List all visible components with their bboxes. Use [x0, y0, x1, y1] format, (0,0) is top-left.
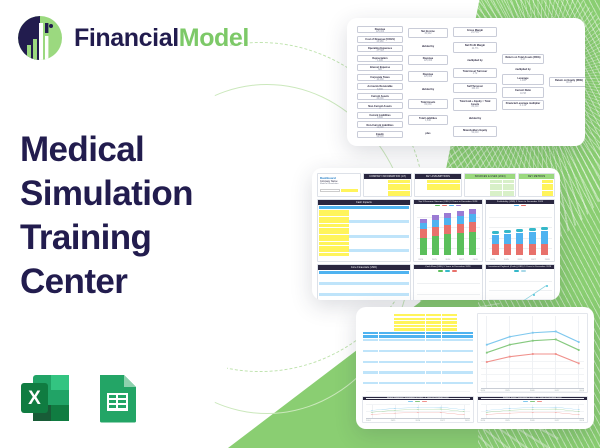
table-row — [363, 368, 473, 370]
table-cell — [379, 238, 394, 241]
table-cell — [364, 231, 379, 234]
table-cell — [438, 180, 449, 183]
table-cell — [379, 386, 394, 388]
table-cell — [457, 328, 472, 330]
table-row — [416, 187, 460, 190]
table-row — [319, 289, 409, 292]
table-cell — [457, 325, 472, 327]
table-cell — [426, 332, 441, 334]
brand-logo: FinancialModel — [17, 15, 249, 61]
table-cell — [410, 332, 425, 334]
dash-chart-revenue-streams[interactable]: Top 5 Revenue Streams (USD) 5 Years to D… — [413, 199, 483, 262]
bar-segment — [432, 220, 439, 227]
bar — [541, 231, 548, 255]
dash-card-company-info: COMPANY INFORMATION (AT) — [363, 173, 411, 197]
table-cell — [394, 297, 409, 300]
panel-projections[interactable]: 20242025202620272028 Income Statement Pr… — [356, 307, 594, 429]
table-cell — [334, 275, 349, 278]
tree-node: Net Profit Margin24.7% — [453, 42, 497, 52]
table-cell — [457, 386, 472, 388]
bar-segment — [432, 227, 439, 236]
axis-tick-label: 2024 — [490, 259, 495, 261]
table-cell — [379, 246, 394, 249]
table-row — [466, 191, 514, 194]
bar — [516, 233, 523, 255]
table-cell — [490, 184, 502, 187]
data-label — [529, 228, 536, 231]
table-cell — [334, 238, 349, 241]
table-cell — [531, 191, 542, 194]
table-cell — [319, 220, 334, 223]
table-cell — [394, 321, 409, 323]
table-cell — [363, 375, 378, 377]
table-cell — [363, 314, 378, 316]
table-cell — [377, 187, 388, 190]
table-cell — [379, 318, 394, 320]
tree-node: Revenue125,000 — [357, 26, 403, 33]
table-row — [365, 191, 409, 194]
axis-tick-label: 2028 — [545, 259, 550, 261]
table-row — [363, 332, 473, 334]
table-cell — [394, 224, 409, 227]
tree-node: Total Asset Turnover1.72 — [453, 68, 497, 78]
table-cell — [394, 242, 409, 245]
table-cell — [410, 361, 425, 363]
table-cell — [449, 187, 460, 190]
table-row — [466, 187, 514, 190]
table-cell — [364, 213, 379, 216]
tree-node: Revenue125,000 — [408, 55, 448, 65]
table-cell — [410, 328, 425, 330]
table-cell — [364, 253, 379, 256]
table-cell — [379, 361, 394, 363]
table-cell — [426, 350, 441, 352]
table-cell — [457, 350, 472, 352]
table-cell — [365, 180, 376, 183]
dash-chart-cash-flow[interactable]: Cash Flow (USD) 5 Years to December 2028… — [413, 264, 483, 300]
table-row — [319, 235, 409, 238]
bar-segment — [420, 238, 427, 256]
table-cell — [349, 289, 364, 292]
axis-tick-label: 2028 — [465, 420, 470, 422]
table-cell — [379, 235, 394, 238]
table-cell — [394, 346, 409, 348]
table-cell — [399, 191, 410, 194]
legend-swatch — [422, 401, 427, 402]
bar-segment — [444, 234, 451, 255]
table-row — [363, 353, 473, 355]
table-cell — [394, 228, 409, 231]
table-cell — [379, 314, 394, 316]
tree-column-1: Revenue125,000Cost of Revenue (COGS)43,9… — [357, 26, 403, 138]
table-cell — [334, 210, 349, 213]
table-cell — [349, 293, 364, 296]
table-cell — [379, 213, 394, 216]
file-format-icons: X — [18, 370, 141, 426]
table-cell — [349, 271, 364, 274]
table-cell — [349, 228, 364, 231]
table-cell — [427, 191, 438, 194]
table-cell — [394, 332, 409, 334]
legend-swatch — [521, 205, 526, 206]
legend-swatch — [449, 205, 454, 206]
table-cell — [334, 217, 349, 220]
table-row — [363, 346, 473, 348]
table-cell — [364, 275, 379, 278]
table-cell — [379, 378, 394, 380]
table-cell — [394, 339, 409, 341]
table-cell — [379, 279, 394, 282]
table-cell — [334, 213, 349, 216]
table-cell — [319, 242, 334, 245]
table-cell — [377, 194, 388, 196]
table-row — [319, 279, 409, 282]
table-row — [363, 328, 473, 330]
table-cell — [349, 275, 364, 278]
table-row — [319, 275, 409, 278]
table-cell — [531, 194, 542, 196]
table-cell — [438, 194, 449, 196]
table-cell — [457, 332, 472, 334]
table-cell — [426, 328, 441, 330]
table-cell — [531, 187, 542, 190]
table-cell — [394, 368, 409, 370]
table-cell — [349, 246, 364, 249]
bar-segment — [529, 232, 536, 244]
table-cell — [442, 378, 457, 380]
table-cell — [379, 357, 394, 359]
projections-chart-3[interactable]: Balance Sheet Presentation (in USD) - 5 … — [477, 396, 589, 423]
table-cell — [442, 318, 457, 320]
tree-node: Total Assets84,030 — [408, 99, 448, 109]
table-cell — [379, 346, 394, 348]
table-cell — [490, 194, 502, 196]
table-cell — [349, 253, 364, 256]
tree-node: Net Income30,942 — [408, 28, 448, 38]
table-cell — [426, 318, 441, 320]
table-cell — [364, 249, 379, 252]
dash-card-key-metrics: KEY METRICS — [518, 173, 555, 197]
table-cell — [364, 224, 379, 227]
table-cell — [349, 220, 364, 223]
legend-swatch — [452, 270, 457, 271]
table-cell — [394, 353, 409, 355]
axis-tick-label: 2026 — [518, 259, 523, 261]
table-cell — [520, 191, 531, 194]
table-cell — [334, 235, 349, 238]
table-cell — [426, 378, 441, 380]
table-cell — [416, 180, 427, 183]
table-cell — [379, 343, 394, 345]
tree-node: Financial Leverage multiplier0.1.22 — [502, 100, 544, 110]
table-cell — [379, 350, 394, 352]
table-cell — [442, 386, 457, 388]
table-cell — [466, 184, 478, 187]
table-cell — [394, 325, 409, 327]
table-cell — [363, 357, 378, 359]
table-row — [363, 325, 473, 327]
tree-node: Self Turnover104.04 — [453, 83, 497, 93]
table-cell — [334, 231, 349, 234]
table-cell — [363, 343, 378, 345]
table-cell — [334, 286, 349, 289]
bar-segment — [444, 218, 451, 225]
table-cell — [379, 228, 394, 231]
tree-node: multiplied by — [453, 57, 497, 63]
table-cell — [334, 242, 349, 245]
bar-segment — [516, 233, 523, 244]
data-label — [492, 231, 499, 234]
dash-card-sources-uses: SOURCES & USES (2024) — [464, 173, 516, 197]
table-row — [466, 184, 514, 187]
table-cell — [410, 321, 425, 323]
table-cell — [363, 364, 378, 366]
tree-node: Leverage1.486 — [502, 74, 544, 84]
table-cell — [426, 382, 441, 384]
table-cell — [442, 321, 457, 323]
table-cell — [394, 361, 409, 363]
table-cell — [319, 224, 334, 227]
table-cell — [394, 275, 409, 278]
axis-tick-label: 2025 — [504, 259, 509, 261]
table-cell — [394, 231, 409, 234]
table-cell — [449, 180, 460, 183]
bar-segment — [444, 225, 451, 234]
tree-node: Cost of Revenue (COGS)43,980 — [357, 36, 403, 43]
table-row — [363, 318, 473, 320]
table-row — [319, 286, 409, 289]
panel-dashboard[interactable]: Dashboard Company Name: Medical Simulati… — [312, 168, 560, 300]
table-cell — [388, 180, 399, 183]
tree-column-3: Gross Margin24.75%Net Profit Margin24.7%… — [453, 26, 497, 138]
table-cell — [363, 328, 378, 330]
table-row — [416, 184, 460, 187]
table-cell — [379, 206, 394, 209]
table-cell — [364, 210, 379, 213]
tree-node: Corporate Taxes10,230 — [357, 74, 403, 81]
table-cell — [319, 289, 334, 292]
table-cell — [379, 335, 394, 337]
table-cell — [349, 242, 364, 245]
table-row — [520, 187, 553, 190]
table-cell — [410, 371, 425, 373]
table-cell — [394, 350, 409, 352]
table-cell — [438, 184, 449, 187]
table-cell — [379, 286, 394, 289]
table-cell — [363, 382, 378, 384]
tree-node: Non-Current Liabilities12,000 — [357, 121, 403, 128]
table-cell — [410, 353, 425, 355]
table-cell — [410, 339, 425, 341]
tree-node: Accounts Receivable8,900 — [357, 83, 403, 90]
table-cell — [394, 314, 409, 316]
table-cell — [379, 353, 394, 355]
dash-card-assumptions: KEY ASSUMPTIONS — [414, 173, 462, 197]
page-title-line-2: Simulation — [20, 172, 250, 216]
axis-tick-label: 2024 — [481, 420, 486, 422]
table-row — [520, 194, 553, 196]
table-cell — [542, 191, 553, 194]
tree-node: Current Liabilities9,800 — [357, 112, 403, 119]
table-cell — [377, 191, 388, 194]
table-cell — [334, 246, 349, 249]
table-cell — [457, 343, 472, 345]
table-cell — [410, 335, 425, 337]
axis-tick-label: 2025 — [432, 259, 437, 261]
table-cell — [334, 279, 349, 282]
table-row — [319, 242, 409, 245]
table-cell — [394, 364, 409, 366]
table-cell — [457, 378, 472, 380]
table-cell — [457, 368, 472, 370]
table-cell — [365, 187, 376, 190]
table-cell — [442, 357, 457, 359]
table-cell — [319, 286, 334, 289]
table-row — [319, 224, 409, 227]
table-cell — [426, 343, 441, 345]
table-cell — [365, 184, 376, 187]
legend-swatch — [408, 401, 413, 402]
legend-swatch — [456, 205, 461, 206]
table-cell — [363, 325, 378, 327]
table-cell — [427, 194, 438, 196]
table-cell — [449, 184, 460, 187]
table-cell — [334, 289, 349, 292]
table-cell — [442, 375, 457, 377]
bar — [444, 213, 451, 256]
table-cell — [379, 210, 394, 213]
table-cell — [379, 275, 394, 278]
tree-column-4: Return on Total Assets (ROA)0.27multipli… — [502, 26, 544, 138]
data-label — [516, 229, 523, 232]
projections-chart-1[interactable]: 20242025202620272028 — [477, 313, 589, 393]
dash-chart-payback[interactable]: Investment Payback (Cash) (USD) 5 Years … — [485, 264, 555, 300]
table-cell — [394, 293, 409, 296]
bar-segment — [420, 229, 427, 237]
table-cell — [426, 371, 441, 373]
table-row — [365, 187, 409, 190]
legend-swatch — [537, 401, 542, 402]
table-cell — [363, 335, 378, 337]
table-cell — [364, 238, 379, 241]
table-cell — [394, 371, 409, 373]
table-cell — [394, 238, 409, 241]
table-row — [416, 180, 460, 183]
bar — [469, 209, 476, 255]
table-row — [365, 194, 409, 196]
table-row — [363, 371, 473, 373]
table-cell — [410, 346, 425, 348]
table-cell — [334, 224, 349, 227]
table-cell — [427, 180, 438, 183]
table-cell — [399, 194, 410, 196]
table-cell — [442, 314, 457, 316]
table-cell — [379, 220, 394, 223]
dash-chart-profitability[interactable]: Profitability (USD) 5 Years to December … — [485, 199, 555, 262]
tree-node: Depreciation1,480 — [357, 55, 403, 62]
table-cell — [334, 253, 349, 256]
table-cell — [457, 361, 472, 363]
table-cell — [379, 328, 394, 330]
table-cell — [426, 335, 441, 337]
x-axis: 20242025202620272028 — [366, 420, 470, 422]
table-cell — [319, 213, 334, 216]
projections-chart-2[interactable]: Income Statement Presentation (in USD) -… — [362, 396, 474, 423]
table-cell — [410, 386, 425, 388]
table-cell — [394, 206, 409, 209]
table-cell — [379, 224, 394, 227]
brand-name-part2: Model — [179, 24, 249, 52]
tree-node: divided by — [408, 44, 448, 50]
table-cell — [379, 271, 394, 274]
table-cell — [394, 271, 409, 274]
table-cell — [457, 339, 472, 341]
table-cell — [394, 282, 409, 285]
table-cell — [349, 213, 364, 216]
table-cell — [364, 293, 379, 296]
table-row — [319, 271, 409, 274]
table-cell — [442, 346, 457, 348]
table-cell — [466, 191, 478, 194]
table-cell — [379, 282, 394, 285]
table-cell — [334, 228, 349, 231]
table-cell — [394, 375, 409, 377]
table-cell — [363, 361, 378, 363]
table-cell — [426, 357, 441, 359]
table-cell — [542, 180, 553, 183]
bar-segment — [469, 222, 476, 232]
axis-tick-label: 2025 — [505, 420, 510, 422]
table-cell — [457, 335, 472, 337]
table-cell — [365, 191, 376, 194]
table-cell — [349, 249, 364, 252]
table-cell — [394, 217, 409, 220]
table-cell — [478, 184, 490, 187]
panel-dupont-tree[interactable]: Income Statement (A' 2024) Balance Sheet… — [347, 18, 585, 146]
table-row — [520, 180, 553, 183]
bar-segment — [492, 235, 499, 244]
table-cell — [503, 194, 515, 196]
table-cell — [449, 191, 460, 194]
table-cell — [416, 194, 427, 196]
table-cell — [442, 328, 457, 330]
table-row — [416, 194, 460, 196]
table-cell — [520, 184, 531, 187]
table-row — [319, 253, 409, 256]
table-cell — [394, 289, 409, 292]
table-cell — [457, 314, 472, 316]
tree-node: divided by — [408, 87, 448, 93]
table-cell — [394, 357, 409, 359]
table-cell — [442, 371, 457, 373]
table-cell — [377, 184, 388, 187]
table-cell — [442, 332, 457, 334]
table-cell — [520, 180, 531, 183]
table-cell — [457, 371, 472, 373]
table-cell — [363, 368, 378, 370]
axis-tick-label: 2024 — [366, 420, 371, 422]
table-cell — [379, 382, 394, 384]
table-row — [363, 321, 473, 323]
table-cell — [426, 321, 441, 323]
table-cell — [542, 187, 553, 190]
table-cell — [394, 343, 409, 345]
table-cell — [319, 217, 334, 220]
table-cell — [410, 357, 425, 359]
table-cell — [457, 375, 472, 377]
table-row — [319, 293, 409, 296]
table-cell — [394, 249, 409, 252]
